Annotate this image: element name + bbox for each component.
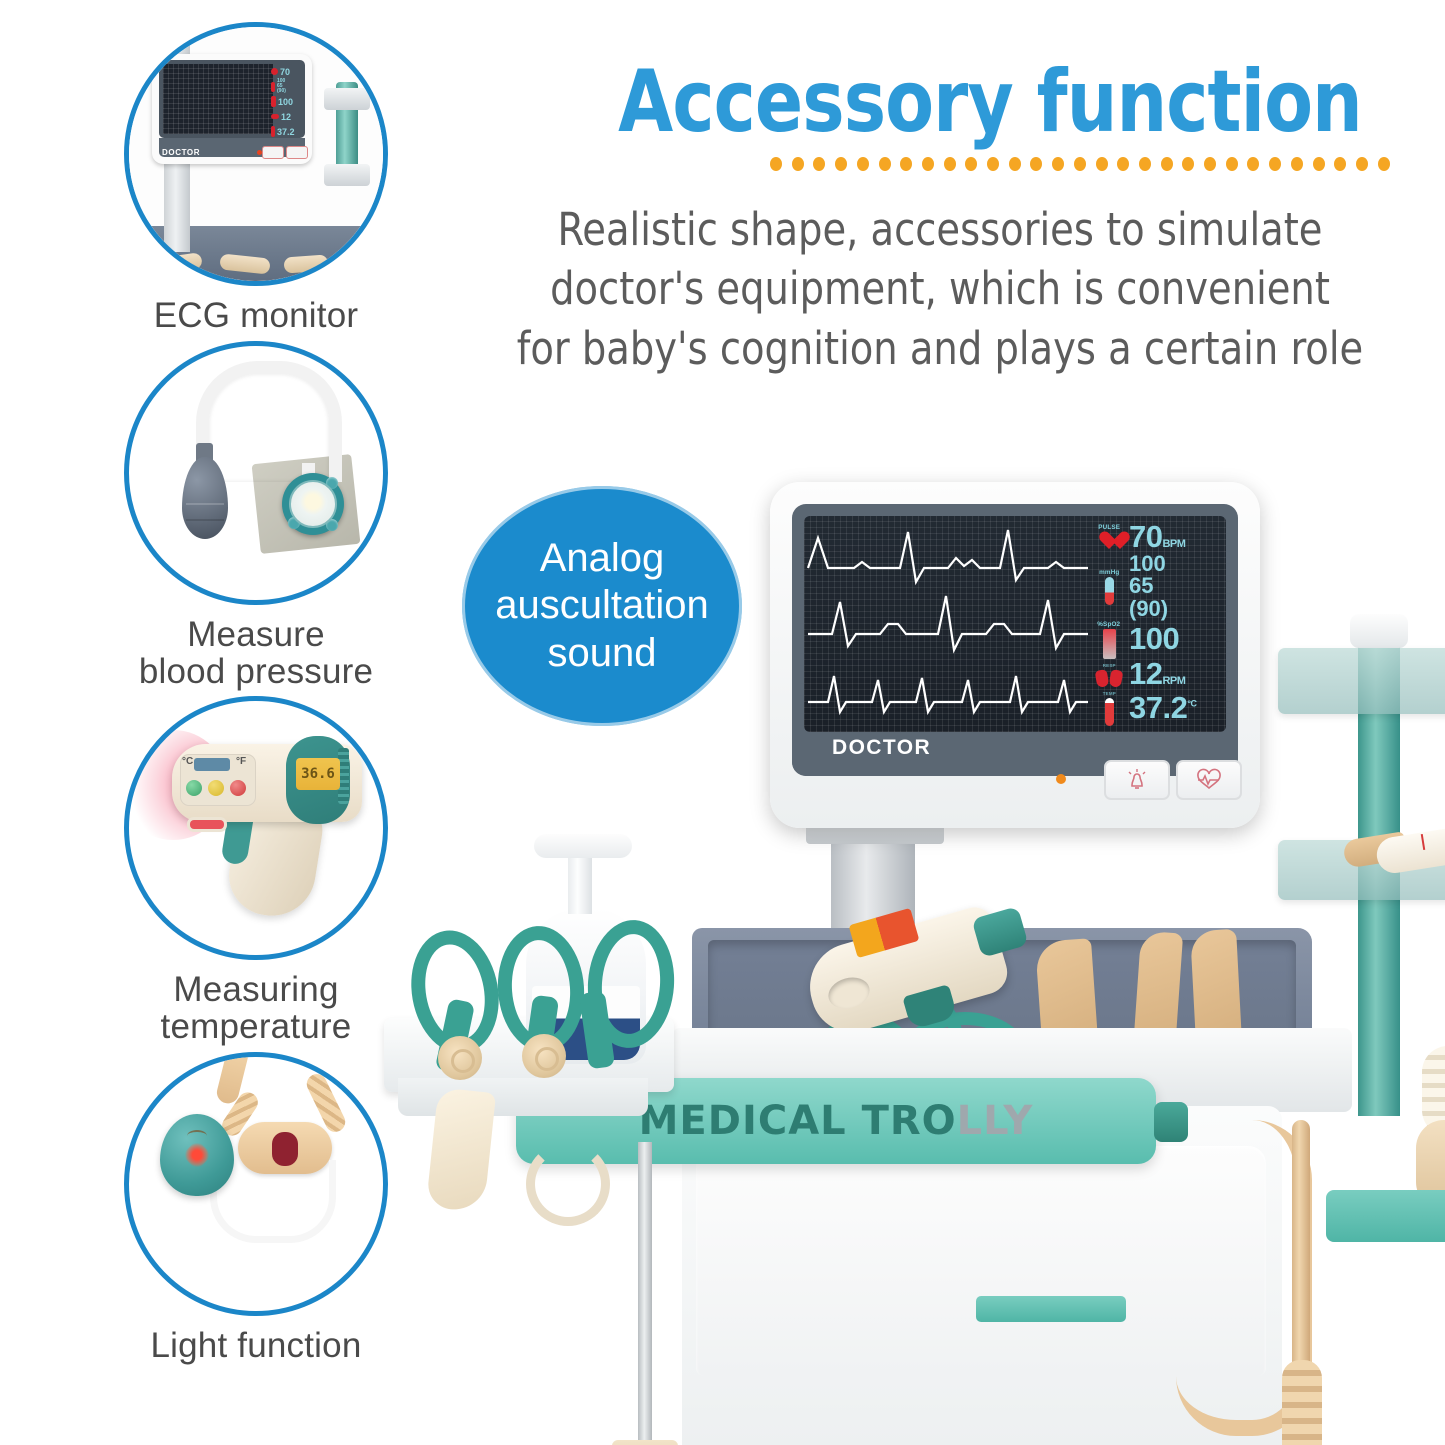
vitals-panel: PULSE 70BPM mmHg 100 xyxy=(1096,522,1220,726)
soap-pump-head xyxy=(534,834,632,858)
pole-base-tray xyxy=(1326,1190,1445,1242)
thermometer-icon xyxy=(1105,577,1114,605)
resp-label: RESP xyxy=(1103,662,1116,669)
fahrenheit-label: °F xyxy=(236,756,246,767)
orange-led-icon xyxy=(1056,774,1066,784)
blood-pressure-cuff-thumb-icon xyxy=(124,341,388,605)
vital-row-spo2: %SpO2 100 xyxy=(1096,621,1220,659)
feature-caption: Measuring temperature xyxy=(86,972,426,1046)
scissors-pivot xyxy=(438,1036,482,1080)
bp-mean: (90) xyxy=(1129,598,1168,620)
drawer-handle[interactable] xyxy=(976,1296,1126,1322)
mmhg-label: mmHg xyxy=(1099,569,1119,576)
monitor-brand-label: DOCTOR xyxy=(832,736,931,760)
resp-value: 12 xyxy=(1129,656,1162,691)
infrared-thermometer-thumb-icon: 36.6 °C °F xyxy=(124,696,388,960)
temp-unit: °C xyxy=(1187,698,1196,708)
cart-leg xyxy=(638,1142,652,1445)
feature-item-blood-pressure[interactable]: Measure blood pressure xyxy=(86,341,426,691)
product-photo: PULSE 70BPM mmHg 100 xyxy=(376,430,1445,1445)
orange-dot-divider-icon xyxy=(770,157,1390,171)
feature-item-temperature[interactable]: 36.6 °C °F Measuring temperature xyxy=(86,696,426,1046)
temp-value: 37.2 xyxy=(1129,690,1187,725)
thermometer-reading: 36.6 xyxy=(301,766,335,782)
upper-shelf xyxy=(1278,648,1445,714)
handlebar-hook xyxy=(526,1142,610,1226)
alarm-bell-icon xyxy=(1124,768,1150,792)
pulse-label: PULSE xyxy=(1098,524,1120,531)
infographic-canvas: 70 10065(90) 100 12 37.2 DOCTOR xyxy=(0,0,1445,1445)
resp-unit: RPM xyxy=(1162,675,1185,687)
bp-diastolic: 65 xyxy=(1129,575,1168,597)
vital-row-bloodpressure: mmHg 100 65 (90) xyxy=(1096,553,1220,620)
pulse-unit: BPM xyxy=(1162,538,1185,550)
vital-row-pulse: PULSE 70BPM xyxy=(1096,522,1220,552)
pulse-value: 70 xyxy=(1129,519,1162,554)
scissors-pivot xyxy=(522,1034,566,1078)
alarm-button[interactable] xyxy=(1104,760,1170,800)
bar-gauge-icon xyxy=(1103,629,1116,659)
temp-label: TEMP xyxy=(1102,690,1115,697)
tongue-depressor xyxy=(426,1087,496,1212)
feature-caption: Light function xyxy=(86,1328,426,1365)
page-subtitle: Realistic shape, accessories to simulate… xyxy=(475,200,1406,378)
ecg-trace-icon xyxy=(804,516,1092,732)
thermometer-icon xyxy=(1105,698,1114,726)
vital-row-temp: TEMP 37.2°C xyxy=(1096,690,1220,726)
bp-systolic: 100 xyxy=(1129,553,1168,575)
iv-pole-cap xyxy=(1350,614,1408,648)
ecg-mode-button[interactable] xyxy=(1176,760,1242,800)
cart-foot xyxy=(612,1440,678,1445)
stethoscope-light-thumb-icon xyxy=(124,1052,388,1316)
thumb-brand-label: DOCTOR xyxy=(162,148,200,157)
spo2-value: 100 xyxy=(1129,621,1179,656)
ecg-monitor-device[interactable]: PULSE 70BPM mmHg 100 xyxy=(770,482,1260,828)
heart-icon xyxy=(1099,532,1120,551)
celsius-label: °C xyxy=(182,756,193,767)
feature-item-light-function[interactable]: Light function xyxy=(86,1052,426,1365)
ecg-monitor-thumb-icon: 70 10065(90) 100 12 37.2 DOCTOR xyxy=(124,22,388,286)
feature-list: 70 10065(90) 100 12 37.2 DOCTOR xyxy=(86,22,426,1371)
page-title: Accessory function xyxy=(594,52,1385,152)
lungs-icon xyxy=(1096,670,1122,687)
feature-caption: ECG monitor xyxy=(86,298,426,335)
spo2-label: %SpO2 xyxy=(1098,621,1121,628)
heart-ecg-icon xyxy=(1195,768,1223,792)
feature-item-ecg-monitor[interactable]: 70 10065(90) 100 12 37.2 DOCTOR xyxy=(86,22,426,335)
monitor-screen: PULSE 70BPM mmHg 100 xyxy=(804,516,1226,732)
feature-caption: Measure blood pressure xyxy=(86,617,426,691)
vital-row-resp: RESP 12RPM xyxy=(1096,659,1220,689)
